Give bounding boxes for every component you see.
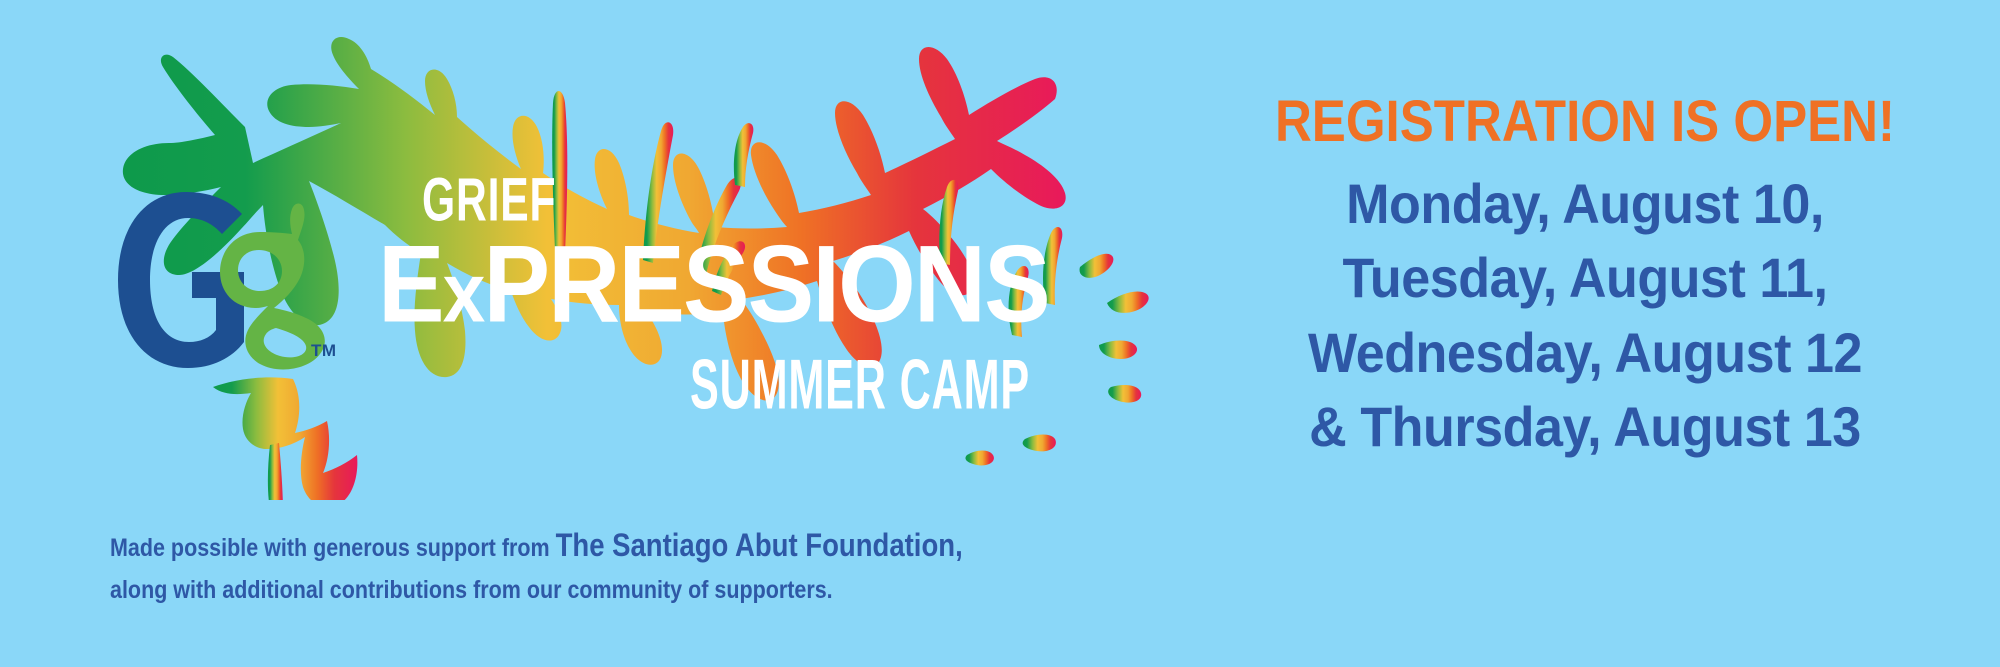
credit-prefix: Made possible with generous support from bbox=[110, 534, 556, 562]
credit-line-2: along with additional contributions from… bbox=[110, 571, 996, 610]
registration-date-4: & Thursday, August 13 bbox=[1213, 390, 1957, 464]
registration-headline: REGISTRATION IS OPEN! bbox=[1233, 92, 1937, 153]
gg-monogram-icon bbox=[108, 188, 338, 373]
credit-foundation-name: The Santiago Abut Foundation bbox=[556, 527, 955, 563]
trademark-symbol: TM bbox=[311, 341, 337, 361]
registration-date-3: Wednesday, August 12 bbox=[1213, 316, 1957, 390]
registration-date-2: Tuesday, August 11, bbox=[1213, 241, 1957, 315]
registration-panel: REGISTRATION IS OPEN! Monday, August 10,… bbox=[1185, 92, 1985, 465]
registration-date-1: Monday, August 10, bbox=[1213, 167, 1957, 241]
registration-dates-list: Monday, August 10, Tuesday, August 11, W… bbox=[1185, 167, 1985, 465]
sponsor-credit: Made possible with generous support from… bbox=[110, 521, 996, 609]
credit-suffix: , bbox=[955, 527, 963, 563]
credit-line-1: Made possible with generous support from… bbox=[110, 521, 996, 571]
promotional-banner: TM GRIEF ExPRESSIONS SUMMER CAMP Made po… bbox=[0, 0, 2000, 667]
